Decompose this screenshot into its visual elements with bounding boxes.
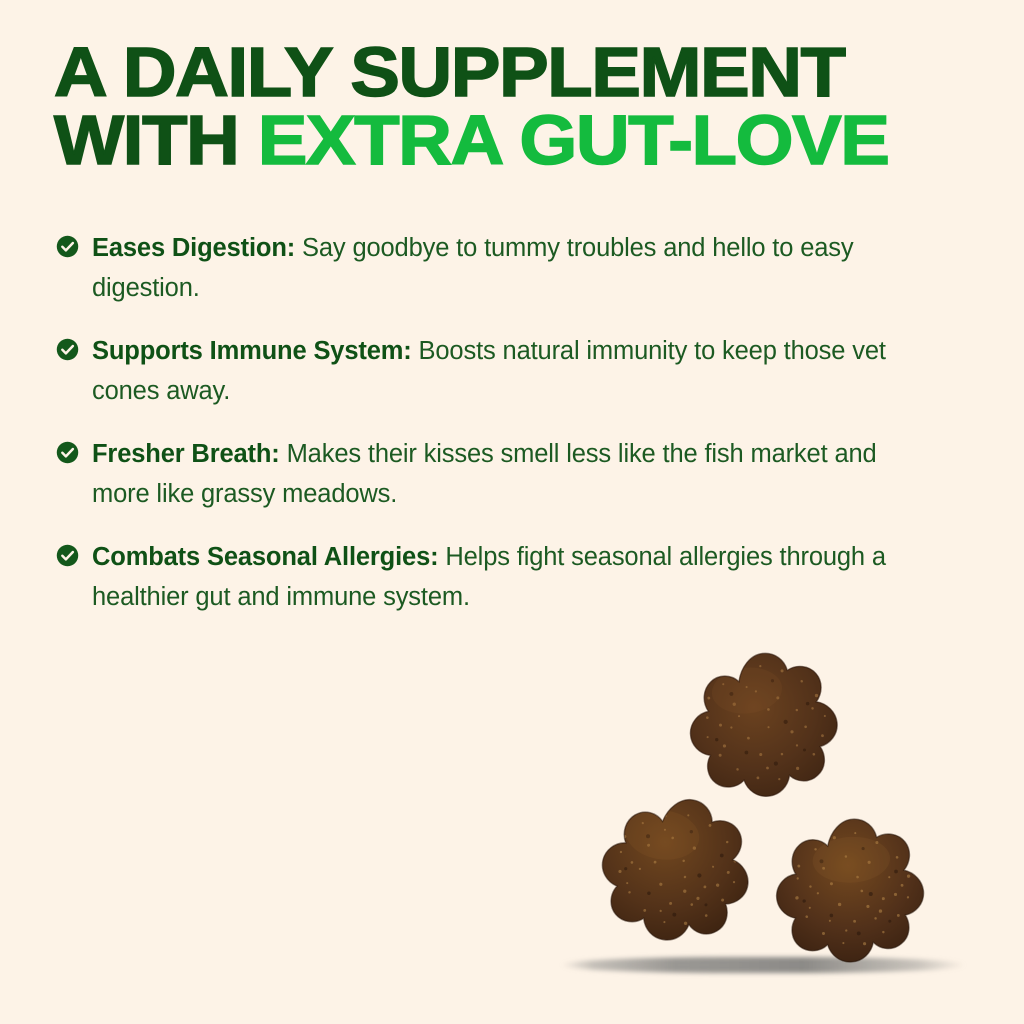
list-item-term: Supports Immune System: <box>92 337 412 365</box>
list-item-term: Combats Seasonal Allergies: <box>92 543 438 571</box>
headline-line-2-prefix: WITH <box>54 101 258 179</box>
check-circle-icon <box>56 235 79 258</box>
list-item-text: Eases Digestion: Say goodbye to tummy tr… <box>92 234 853 302</box>
page-title: A DAILY SUPPLEMENT WITH EXTRA GUT-LOVE <box>54 40 974 172</box>
headline-line-2: WITH EXTRA GUT-LOVE <box>54 108 1024 172</box>
list-item-text: Fresher Breath: Makes their kisses smell… <box>92 440 877 508</box>
headline-line-1: A DAILY SUPPLEMENT <box>54 40 1024 104</box>
check-circle-icon <box>56 338 79 361</box>
headline-line-2-highlight: EXTRA GUT-LOVE <box>258 101 889 179</box>
promo-canvas: A DAILY SUPPLEMENT WITH EXTRA GUT-LOVE E… <box>0 0 1024 1024</box>
list-item-term: Fresher Breath: <box>92 440 280 468</box>
list-item-text: Combats Seasonal Allergies: Helps fight … <box>92 543 886 611</box>
benefits-list: Eases Digestion: Say goodbye to tummy tr… <box>56 228 886 617</box>
headline-line-1-text: A DAILY SUPPLEMENT <box>54 33 845 111</box>
list-item: Supports Immune System: Boosts natural i… <box>56 331 886 411</box>
check-circle-icon <box>56 441 79 464</box>
product-image-chews <box>545 630 975 1010</box>
check-circle-icon <box>56 544 79 567</box>
list-item-term: Eases Digestion: <box>92 234 295 262</box>
list-item: Eases Digestion: Say goodbye to tummy tr… <box>56 228 886 308</box>
chew-bottom-left <box>582 781 781 980</box>
list-item-text: Supports Immune System: Boosts natural i… <box>92 337 886 405</box>
chew-bottom-right <box>765 808 950 993</box>
list-item: Fresher Breath: Makes their kisses smell… <box>56 434 886 514</box>
list-item: Combats Seasonal Allergies: Helps fight … <box>56 537 886 617</box>
